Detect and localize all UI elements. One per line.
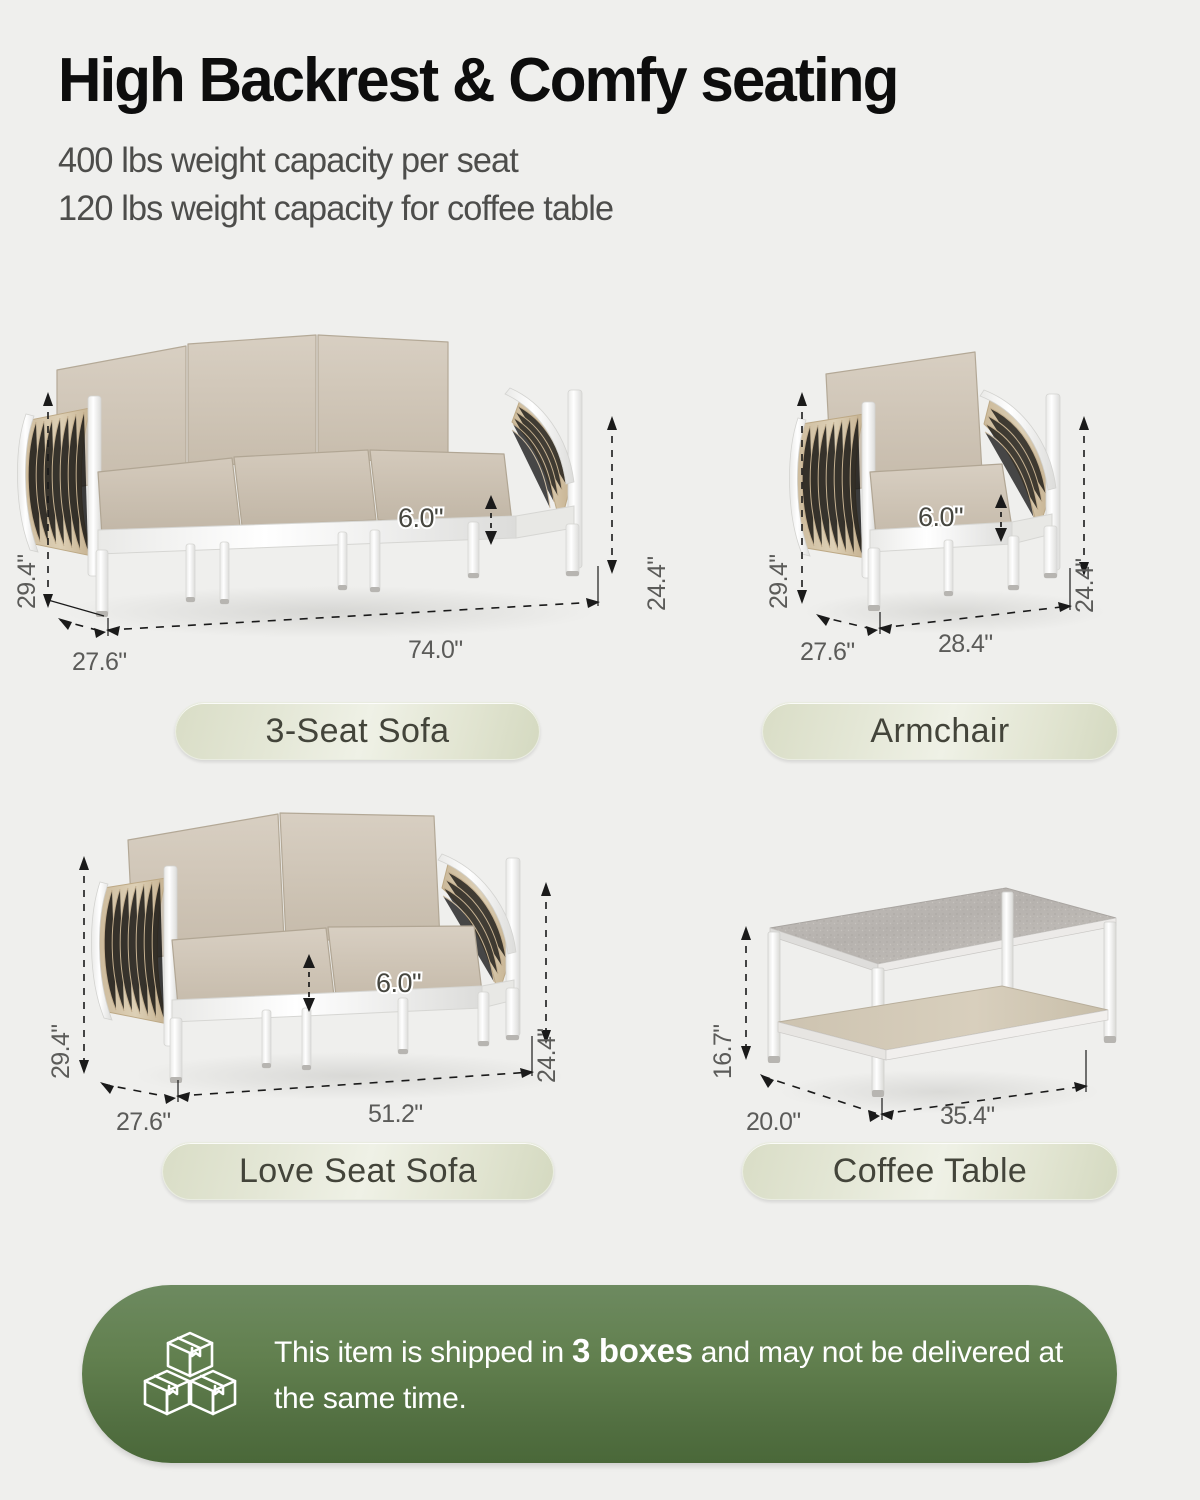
dim-love-seat-depth: 27.6" [116,1108,171,1137]
cushion-arrow-icon [988,492,1014,544]
cushion-arrow-icon [296,952,322,1014]
product-card-armchair: 29.4" 24.4" 27.6" 28.4" 6.0" [740,340,1180,730]
callout-three-seat-cushion: 6.0" [398,503,443,534]
capacity-table-line: 120 lbs weight capacity for coffee table [58,185,1136,233]
dim-armchair-depth: 27.6" [800,638,855,667]
dim-armchair-back-height: 24.4" [1071,558,1100,613]
product-label-three-seat-sofa[interactable]: 3-Seat Sofa [175,702,540,760]
dim-three-seat-depth: 27.6" [72,648,127,677]
product-card-coffee-table: 16.7" 20.0" 35.4" [710,870,1170,1170]
cushion-arrow-icon [478,493,504,547]
page-title: High Backrest & Comfy seating [58,48,1125,113]
dim-coffee-table-width: 35.4" [940,1102,995,1131]
dim-three-seat-back-height: 24.4" [643,556,672,611]
product-label-coffee-table[interactable]: Coffee Table [742,1142,1118,1200]
dim-three-seat-overall-height: 29.4" [13,554,42,609]
dim-armchair-width: 28.4" [938,630,993,659]
love-seat-sofa-illustration [50,800,670,1130]
shipping-text-before: This item is shipped in [274,1336,572,1369]
capacity-seat-line: 400 lbs weight capacity per seat [58,137,1136,185]
stacked-boxes-icon [144,1330,236,1418]
dim-coffee-table-height: 16.7" [709,1024,738,1079]
capacity-subheading: 400 lbs weight capacity per seat 120 lbs… [58,137,1158,232]
dim-armchair-overall-height: 29.4" [765,554,794,609]
dim-love-seat-back-height: 24.4" [533,1028,562,1083]
product-label-armchair[interactable]: Armchair [762,702,1118,760]
callout-love-seat-cushion: 6.0" [376,968,421,999]
three-seat-sofa-illustration [0,330,700,670]
coffee-table-illustration [710,870,1170,1140]
dim-love-seat-overall-height: 29.4" [47,1024,76,1079]
product-card-love-seat-sofa: 29.4" 24.4" 27.6" 51.2" 6.0" [50,800,670,1180]
header: High Backrest & Comfy seating 400 lbs we… [58,48,1158,232]
dim-love-seat-width: 51.2" [368,1100,423,1129]
shipping-box-count: 3 boxes [572,1332,693,1369]
shipping-message: This item is shipped in 3 boxes and may … [274,1326,1074,1422]
callout-armchair-cushion: 6.0" [918,502,963,533]
dim-three-seat-width: 74.0" [408,636,463,665]
shipping-banner: This item is shipped in 3 boxes and may … [82,1285,1117,1463]
dim-coffee-table-depth: 20.0" [746,1108,801,1137]
product-card-three-seat-sofa: 29.4" 24.4" 27.6" 74.0" 6.0" [0,330,700,730]
product-label-love-seat-sofa[interactable]: Love Seat Sofa [162,1142,554,1200]
